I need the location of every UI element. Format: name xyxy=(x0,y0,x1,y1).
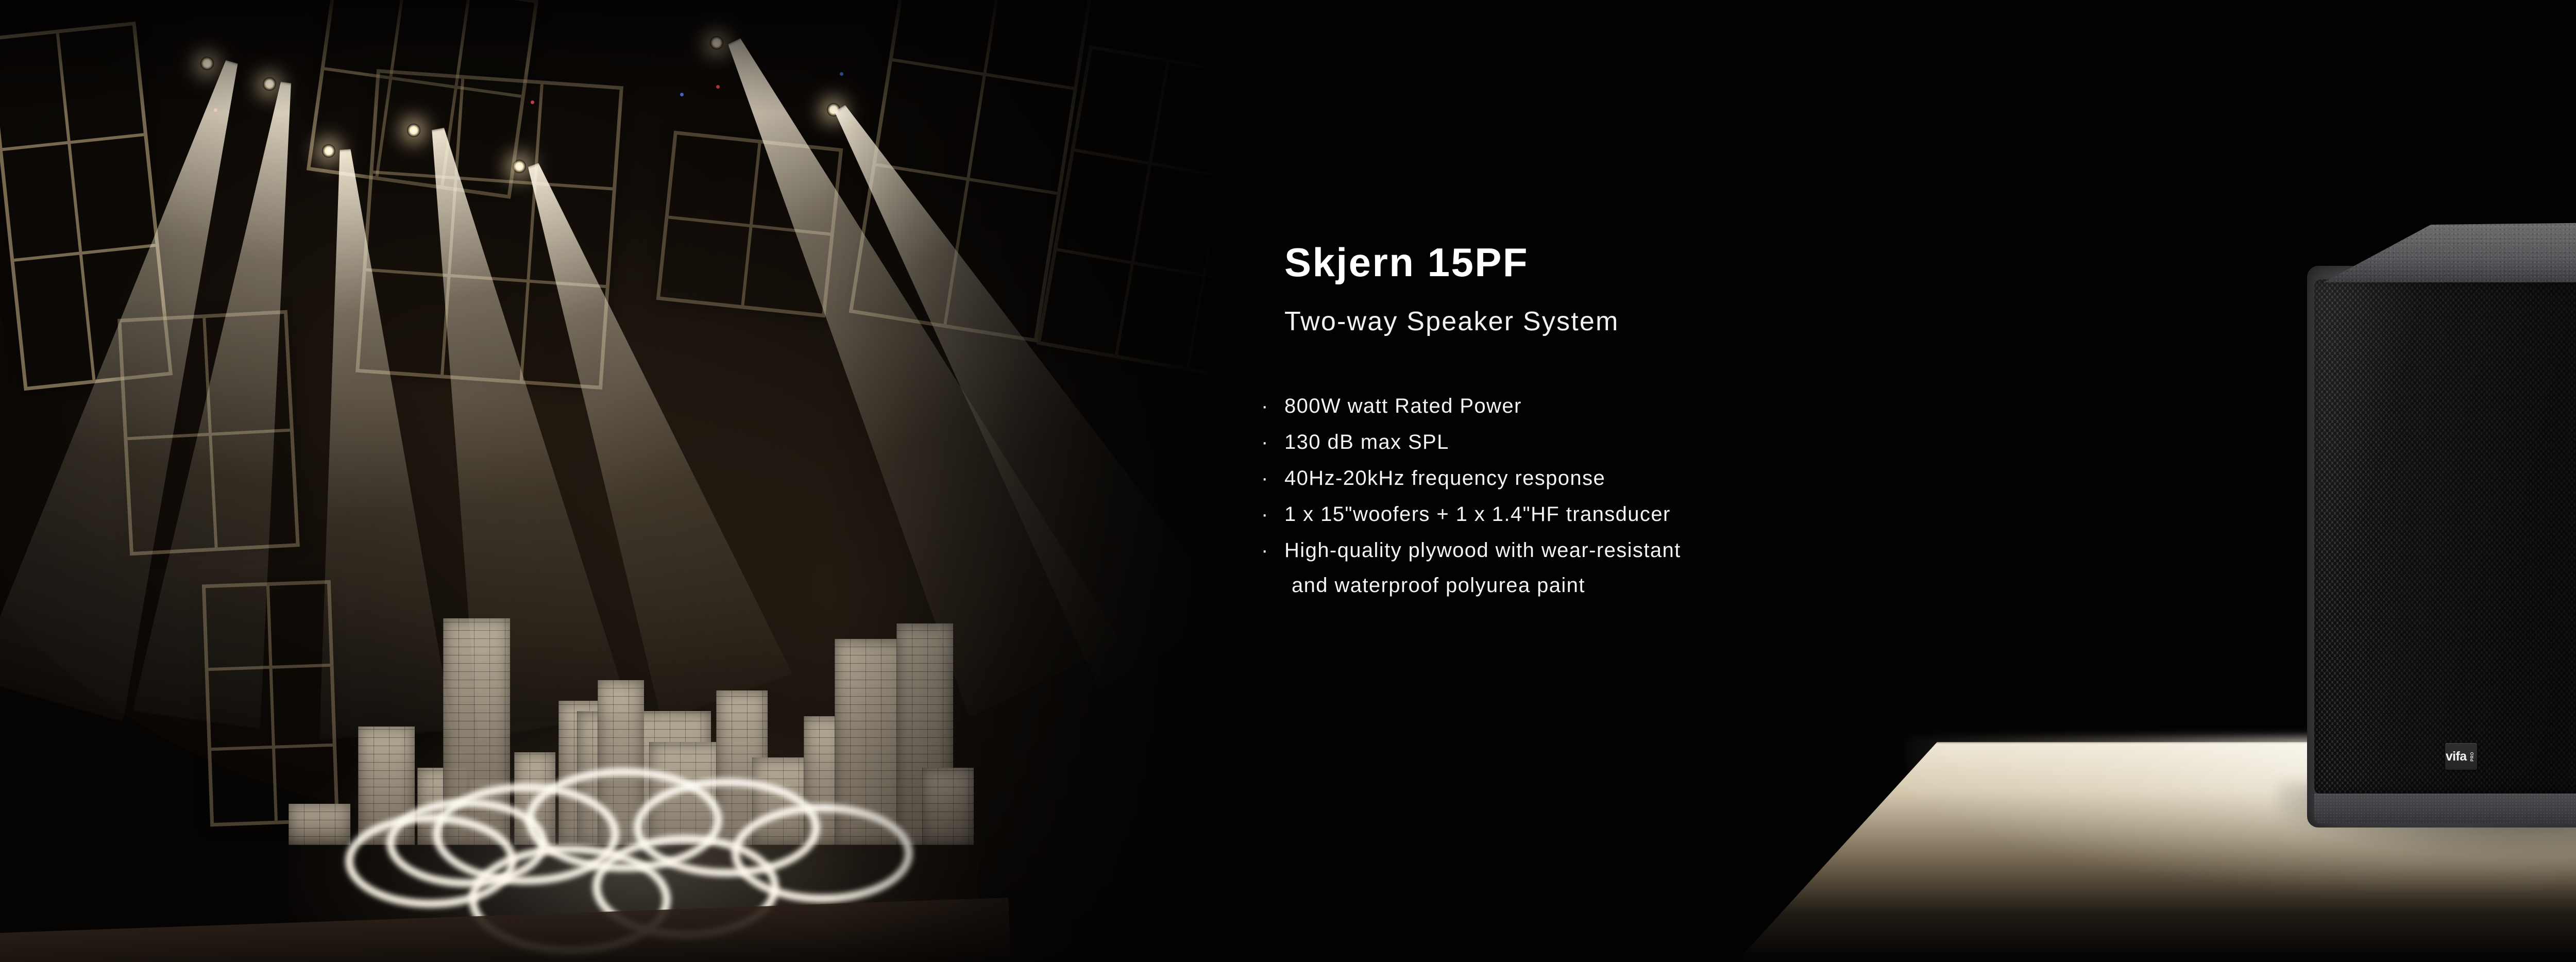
spec-text: 40Hz-20kHz frequency response xyxy=(1284,468,1605,488)
spec-text: 1 x 15"woofers + 1 x 1.4"HF transducer xyxy=(1284,504,1671,525)
spec-item: · 1 x 15"woofers + 1 x 1.4"HF transducer xyxy=(1261,504,2292,525)
cabinet-bottom-trim xyxy=(2314,794,2576,823)
spec-list: · 800W watt Rated Power · 130 dB max SPL… xyxy=(1261,396,2292,596)
bullet-marker: · xyxy=(1261,504,1284,525)
brand-suffix: PRO xyxy=(2469,752,2474,762)
spec-item: · 800W watt Rated Power xyxy=(1261,396,2292,416)
product-banner: Skjern 15PF Two-way Speaker System · 800… xyxy=(0,0,2576,962)
beam-source-light xyxy=(407,124,420,137)
bullet-marker: · xyxy=(1261,468,1284,488)
bullet-marker: · xyxy=(1261,396,1284,416)
concert-stage-photo xyxy=(0,0,1288,962)
product-subtitle: Two-way Speaker System xyxy=(1284,308,2292,335)
spec-item: · 130 dB max SPL xyxy=(1261,432,2292,452)
hexagonal-perforated-grille xyxy=(2314,279,2576,795)
cabinet-front-baffle: vifa PRO xyxy=(2307,266,2576,828)
product-copy-block: Skjern 15PF Two-way Speaker System · 800… xyxy=(1261,242,2292,611)
spec-text: 800W watt Rated Power xyxy=(1284,396,1522,416)
spec-item: · High-quality plywood with wear-resista… xyxy=(1261,540,2292,596)
speaker-product-image: vifa PRO xyxy=(2303,222,2576,830)
page-title: Skjern 15PF xyxy=(1284,242,2292,282)
spec-text: High-quality plywood with wear-resistant xyxy=(1284,540,1681,561)
beam-source-light xyxy=(322,144,335,158)
grille-sheen xyxy=(2314,279,2576,795)
window-frame-set-piece xyxy=(355,69,623,390)
beam-source-light xyxy=(513,160,526,173)
spec-text-continuation: and waterproof polyurea paint xyxy=(1292,575,2292,596)
bullet-marker: · xyxy=(1261,540,1284,561)
brand-wordmark: vifa xyxy=(2446,750,2467,763)
spec-text: 130 dB max SPL xyxy=(1284,432,1449,452)
cabinet-top-cap xyxy=(2307,222,2576,282)
photo-right-fade xyxy=(824,0,1288,962)
window-frame-set-piece xyxy=(656,131,843,318)
vifa-pro-badge: vifa PRO xyxy=(2445,743,2477,770)
bullet-marker: · xyxy=(1261,432,1284,452)
window-frame-set-piece xyxy=(117,310,300,556)
spec-item: · 40Hz-20kHz frequency response xyxy=(1261,468,2292,488)
